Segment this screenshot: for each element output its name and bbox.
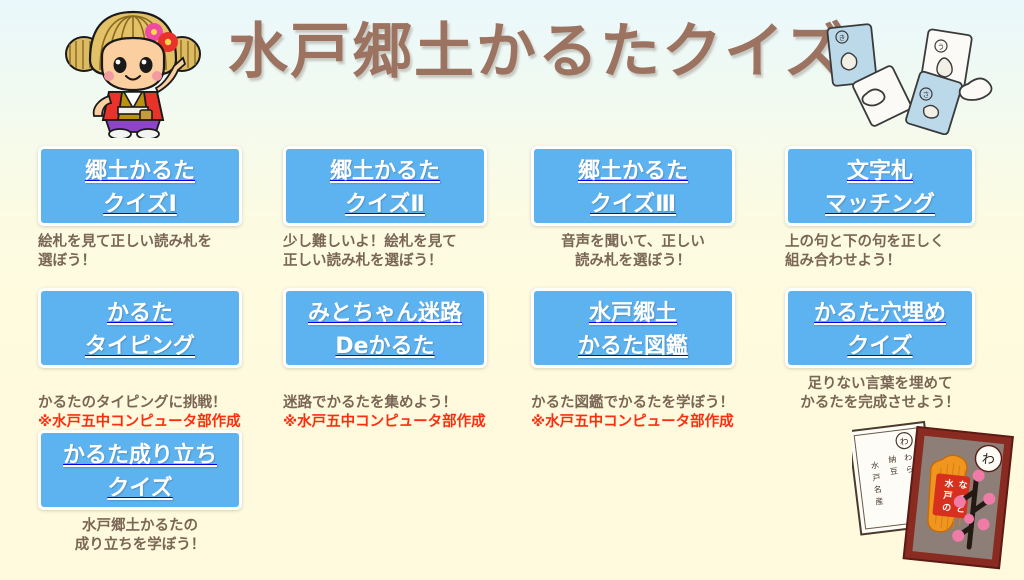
menu-button-line1: 郷土かるた (286, 155, 484, 188)
menu-cell-kyodo-karuta-quiz-2: 郷土かるた クイズⅡ 少し難しいよ！絵札を見て 正しい読み札を選ぼう！ (283, 146, 487, 271)
menu-cell-mojifuda-matching: 文字札 マッチング 上の句と下の句を正しく 組み合わせよう！ (785, 146, 975, 271)
menu-button-line1: かるた成り立ち (41, 439, 239, 472)
menu-button-kyodo-karuta-quiz-1[interactable]: 郷土かるた クイズⅠ (38, 146, 242, 226)
menu-button-line1: 郷土かるた (534, 155, 732, 188)
natto-karuta-card-illustration-icon: わ 水戸名産 納豆 わら 水戸の なっと (852, 418, 1024, 580)
svg-text:戸: 戸 (943, 490, 953, 502)
menu-caption-note: ※水戸五中コンピュータ部作成 (283, 413, 487, 432)
menu-caption-note: ※水戸五中コンピュータ部作成 (531, 413, 735, 432)
svg-text:う: う (938, 43, 945, 51)
mito-chan-mascot-icon (62, 8, 204, 138)
svg-text:の: の (942, 502, 952, 514)
menu-button-line2: Deかるた (286, 330, 484, 363)
menu-button-line2: クイズ (41, 472, 239, 505)
menu-button-mito-kyodo-karuta-zukan[interactable]: 水戸郷土 かるた図鑑 (531, 288, 735, 368)
menu-caption: 音声を聞いて、正しい 読み札を選ぼう！ (531, 233, 735, 271)
menu-button-karuta-typing[interactable]: かるた タイピング (38, 288, 242, 368)
menu-caption: 上の句と下の句を正しく 組み合わせよう！ (785, 233, 975, 271)
svg-text:水: 水 (870, 460, 879, 471)
svg-text:納: 納 (888, 454, 897, 465)
karuta-cards-illustration-icon: き う さ (820, 20, 1000, 135)
menu-button-line1: かるた穴埋め (788, 297, 972, 330)
svg-text:さ: さ (923, 91, 930, 99)
menu-button-line1: 文字札 (788, 155, 972, 188)
svg-text:わ: わ (981, 452, 996, 468)
menu-caption: 絵札を見て正しい読み札を 選ぼう！ (38, 233, 242, 271)
menu-button-line2: かるた図鑑 (534, 330, 732, 363)
menu-button-line2: クイズⅠ (41, 188, 239, 221)
menu-button-line1: かるた (41, 297, 239, 330)
menu-button-line2: クイズⅢ (534, 188, 732, 221)
menu-button-line1: 水戸郷土 (534, 297, 732, 330)
menu-button-kyodo-karuta-quiz-3[interactable]: 郷土かるた クイズⅢ (531, 146, 735, 226)
menu-cell-kyodo-karuta-quiz-3: 郷土かるた クイズⅢ 音声を聞いて、正しい 読み札を選ぼう！ (531, 146, 735, 271)
page-title: 水戸郷土かるたクイズ (228, 22, 846, 82)
menu-button-mito-chan-meiro-de-karuta[interactable]: みとちゃん迷路 Deかるた (283, 288, 487, 368)
menu-cell-karuta-naritachi-quiz: かるた成り立ち クイズ 水戸郷土かるたの 成り立ちを学ぼう！ (38, 430, 242, 555)
menu-caption-text: 迷路でかるたを集めよう！ (283, 395, 457, 411)
svg-text:戸: 戸 (872, 473, 881, 483)
menu-button-kyodo-karuta-quiz-2[interactable]: 郷土かるた クイズⅡ (283, 146, 487, 226)
svg-text:産: 産 (875, 496, 884, 507)
svg-text:な: な (958, 480, 968, 492)
menu-button-karuta-anaume-quiz[interactable]: かるた穴埋め クイズ (785, 288, 975, 368)
menu-cell-mito-chan-meiro-de-karuta: みとちゃん迷路 Deかるた 迷路でかるたを集めよう！ ※水戸五中コンピュータ部作… (283, 288, 487, 451)
menu-caption: 水戸郷土かるたの 成り立ちを学ぼう！ (38, 517, 242, 555)
page-root: 水戸郷土かるたクイズ (0, 0, 1024, 580)
svg-text:わ: わ (904, 453, 913, 463)
svg-text:名: 名 (873, 484, 882, 495)
menu-cell-karuta-anaume-quiz: かるた穴埋め クイズ 足りない言葉を埋めて かるたを完成させよう！ (785, 288, 975, 413)
menu-button-mojifuda-matching[interactable]: 文字札 マッチング (785, 146, 975, 226)
svg-text:わ: わ (899, 436, 909, 448)
menu-button-karuta-naritachi-quiz[interactable]: かるた成り立ち クイズ (38, 430, 242, 510)
menu-button-line1: みとちゃん迷路 (286, 297, 484, 330)
menu-button-line2: クイズ (788, 330, 972, 363)
menu-caption-text: かるた図鑑でかるたを学ぼう！ (531, 395, 734, 411)
menu-cell-kyodo-karuta-quiz-1: 郷土かるた クイズⅠ 絵札を見て正しい読み札を 選ぼう！ (38, 146, 242, 271)
menu-button-line1: 郷土かるた (41, 155, 239, 188)
menu-button-line2: タイピング (41, 330, 239, 363)
menu-cell-mito-kyodo-karuta-zukan: 水戸郷土 かるた図鑑 かるた図鑑でかるたを学ぼう！ ※水戸五中コンピュータ部作成 (531, 288, 735, 451)
svg-text:き: き (839, 34, 846, 42)
menu-caption: 少し難しいよ！絵札を見て 正しい読み札を選ぼう！ (283, 233, 487, 271)
menu-caption: かるた図鑑でかるたを学ぼう！ ※水戸五中コンピュータ部作成 (531, 375, 735, 451)
menu-cell-karuta-typing: かるた タイピング かるたのタイピングに挑戦！ ※水戸五中コンピュータ部作成 (38, 288, 242, 451)
svg-text:豆: 豆 (889, 467, 898, 477)
menu-caption-text: かるたのタイピングに挑戦！ (38, 395, 227, 411)
menu-caption: 足りない言葉を埋めて かるたを完成させよう！ (785, 375, 975, 413)
menu-caption: 迷路でかるたを集めよう！ ※水戸五中コンピュータ部作成 (283, 375, 487, 451)
page-header: 水戸郷土かるたクイズ (0, 0, 1024, 142)
menu-button-line2: マッチング (788, 188, 972, 221)
menu-button-line2: クイズⅡ (286, 188, 484, 221)
